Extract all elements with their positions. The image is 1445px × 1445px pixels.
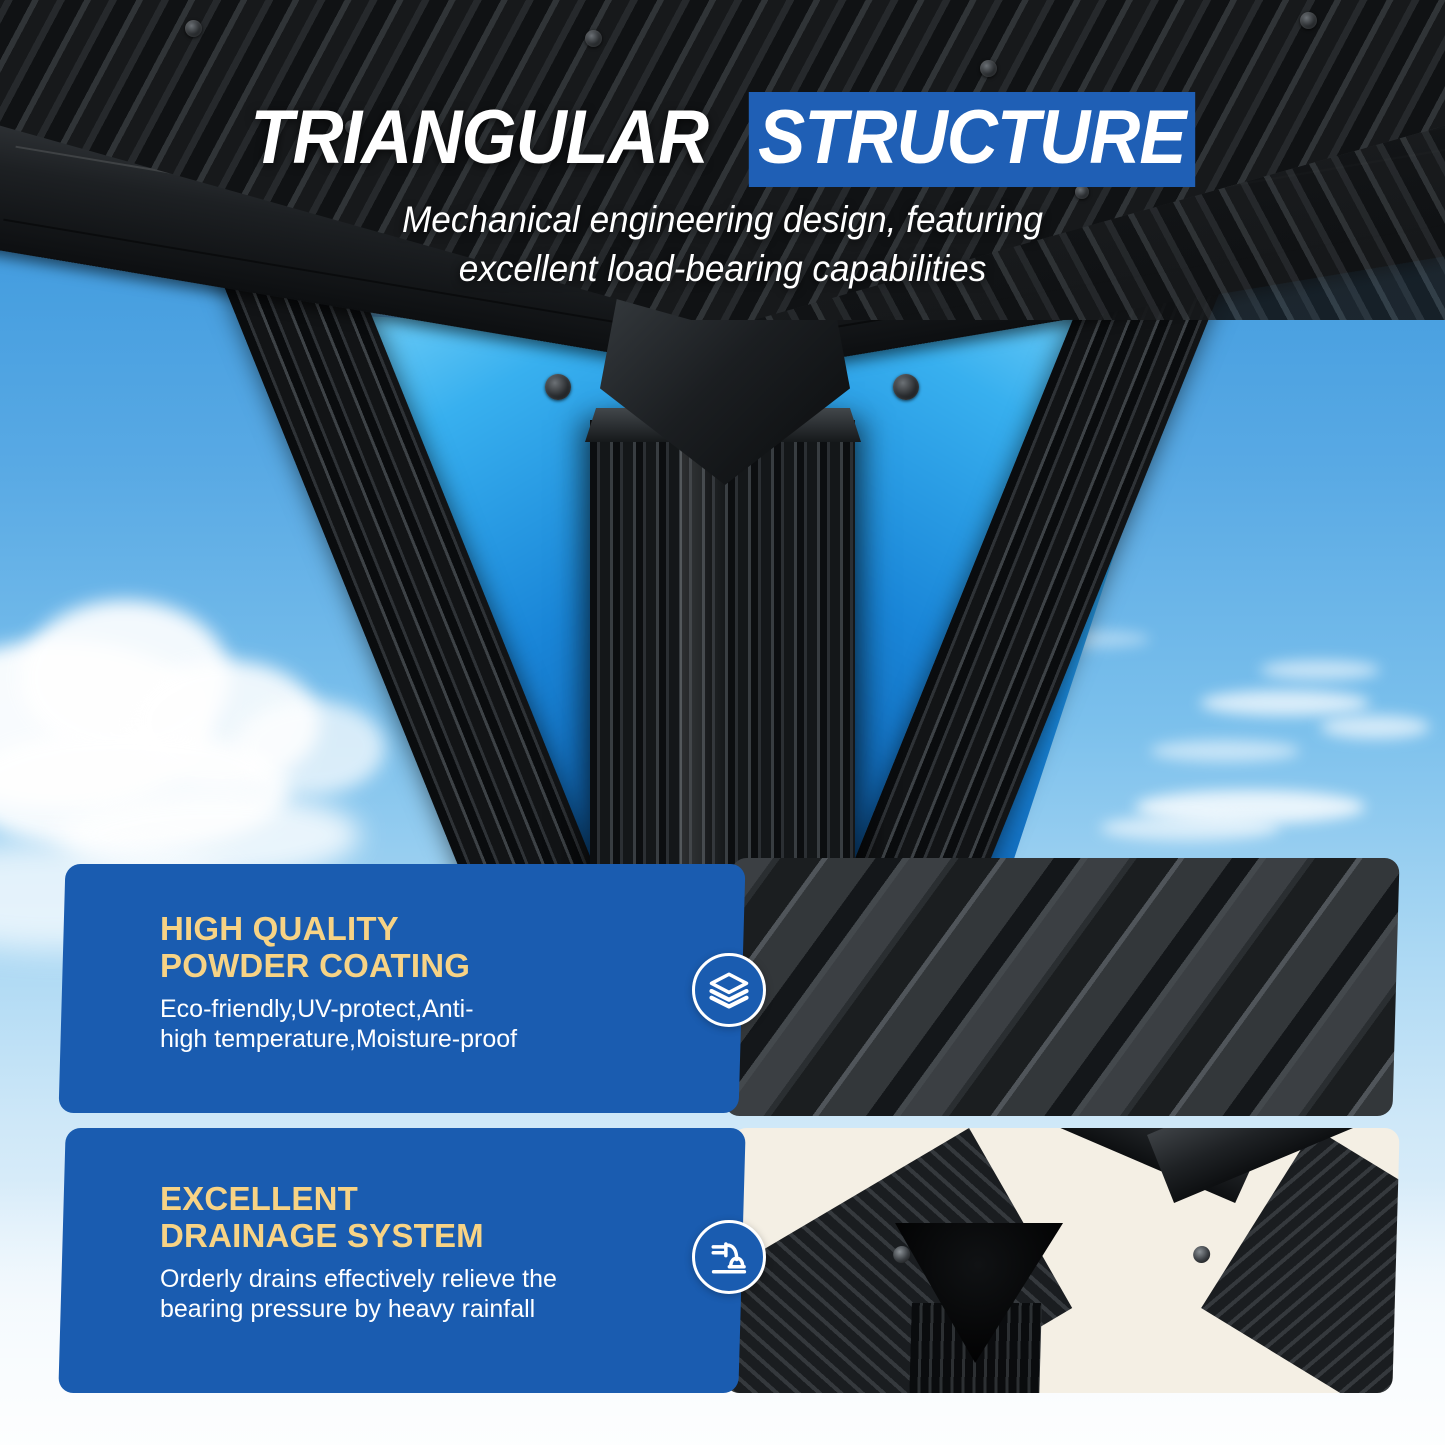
feature-title: EXCELLENT DRAINAGE SYSTEM: [160, 1180, 680, 1255]
roof-screw: [185, 20, 202, 37]
feature-text-drainage: EXCELLENT DRAINAGE SYSTEM Orderly drains…: [160, 1180, 680, 1324]
headline-word-highlight: STRUCTURE: [749, 92, 1195, 187]
drainage-pipe-icon: [708, 1236, 750, 1278]
joint-screw: [1193, 1246, 1210, 1263]
feature-description: Eco-friendly,UV-protect,Anti- high tempe…: [160, 994, 680, 1054]
headline-word-plain: TRIANGULAR: [251, 94, 709, 181]
fascia-bolt: [893, 374, 919, 400]
page-title: TRIANGULARSTRUCTURE: [0, 92, 1445, 187]
feature-photo-drainage: [724, 1128, 1399, 1393]
product-feature-poster: TRIANGULARSTRUCTURE Mechanical engineeri…: [0, 0, 1445, 1445]
drainage-pipe-icon-badge: [692, 1220, 766, 1294]
feature-description: Orderly drains effectively relieve the b…: [160, 1264, 680, 1324]
center-post-highlight: [680, 420, 728, 880]
fascia-bolt: [545, 374, 571, 400]
page-subtitle: Mechanical engineering design, featuring…: [36, 196, 1409, 294]
feature-title: HIGH QUALITY POWDER COATING: [160, 910, 680, 985]
roof-screw: [585, 30, 602, 47]
feature-photo-powder-coating: [724, 858, 1399, 1116]
roof-screw: [980, 60, 997, 77]
roof-screw: [1300, 12, 1317, 29]
layers-icon-badge: [692, 953, 766, 1027]
layers-icon: [708, 969, 750, 1011]
feature-text-powder-coating: HIGH QUALITY POWDER COATING Eco-friendly…: [160, 910, 680, 1054]
